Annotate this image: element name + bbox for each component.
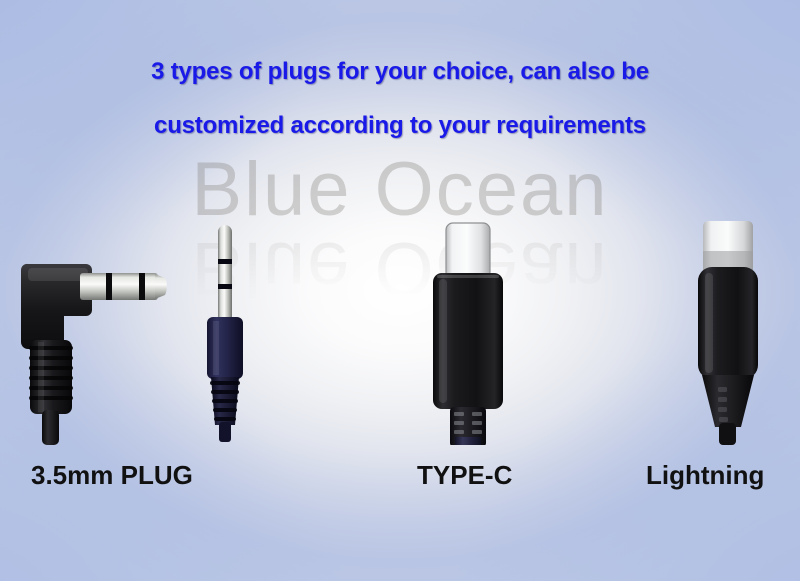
cable bbox=[219, 422, 231, 442]
plug-label-lightning: Lightning bbox=[646, 460, 764, 491]
plug-tip bbox=[218, 225, 232, 240]
connector-seam bbox=[437, 275, 499, 278]
headline-line-1: 3 types of plugs for your choice, can al… bbox=[0, 58, 800, 86]
plug-tip bbox=[155, 274, 167, 299]
plug-body bbox=[207, 317, 243, 379]
strain-relief bbox=[29, 340, 73, 414]
plug-ring-2 bbox=[218, 284, 232, 289]
plug-shaft bbox=[218, 239, 232, 319]
plug-ring-1 bbox=[218, 259, 232, 264]
plug-body-highlight bbox=[213, 321, 219, 375]
headline-line-2: customized according to your requirement… bbox=[0, 112, 800, 140]
plug-label-35mm: 3.5mm PLUG bbox=[31, 460, 193, 491]
strain-relief bbox=[210, 377, 240, 425]
plug-body-highlight bbox=[28, 268, 88, 281]
product-banner: Blue Ocean Blue Ocean 3 types of plugs f… bbox=[0, 0, 800, 581]
right-angle-audio-jack-icon bbox=[10, 250, 185, 445]
cable bbox=[719, 423, 736, 445]
connector-body-highlight bbox=[439, 279, 447, 403]
connector-body-highlight bbox=[705, 273, 713, 373]
lightning-connector-icon bbox=[680, 215, 780, 445]
plug-label-typec: TYPE-C bbox=[417, 460, 512, 491]
headline: 3 types of plugs for your choice, can al… bbox=[0, 58, 800, 140]
strain-relief bbox=[702, 375, 754, 427]
straight-audio-jack-icon bbox=[180, 222, 270, 442]
cable bbox=[42, 410, 59, 445]
connector-tip bbox=[446, 223, 490, 279]
plug-ring-2 bbox=[139, 273, 145, 300]
plug-shaft bbox=[80, 273, 158, 300]
plug-ring-1 bbox=[106, 273, 112, 300]
usb-type-c-connector-icon bbox=[415, 215, 525, 445]
cable bbox=[455, 437, 481, 445]
